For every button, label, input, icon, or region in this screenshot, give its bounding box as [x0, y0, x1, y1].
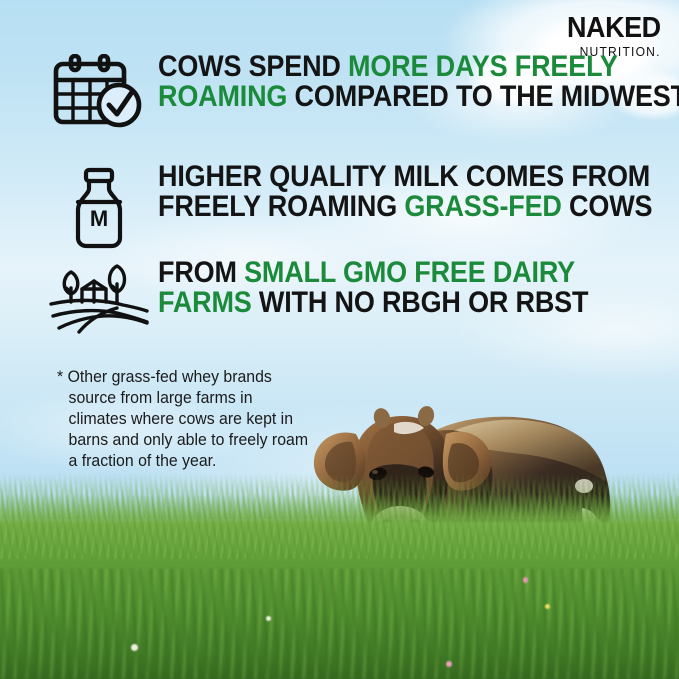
feature-row-milk: M HIGHER QUALITY MILK COMES FROM FREELY … [40, 162, 679, 250]
headline-text-plain: COMPARED TO THE MIDWEST* [287, 80, 679, 113]
infographic-canvas: NAKED NUTRITION. COWS SP [0, 0, 679, 679]
feature-row-roaming: COWS SPEND MORE DAYS FREELY ROAMING COMP… [40, 52, 679, 128]
wildflower [523, 577, 528, 583]
wildflower [545, 604, 550, 609]
footnote: * Other grass-fed whey brands source fro… [57, 367, 309, 472]
calendar-check-icon [40, 52, 158, 128]
headline-milk-line2: FREELY ROAMING GRASS-FED COWS [158, 192, 652, 222]
headline-text-plain: WITH NO RBGH OR RBST [252, 286, 589, 319]
grass-midground-blades [0, 479, 679, 559]
svg-text:M: M [90, 206, 108, 231]
footnote-text: Other grass-fed whey brands source from … [68, 368, 308, 470]
headline-milk: HIGHER QUALITY MILK COMES FROM FREELY RO… [158, 162, 652, 222]
headline-text-plain: HIGHER QUALITY MILK COMES FROM [158, 160, 650, 193]
farm-icon [40, 258, 158, 334]
headline-text-accent: SMALL GMO FREE DAIRY [244, 256, 575, 289]
headline-milk-line1: HIGHER QUALITY MILK COMES FROM [158, 162, 652, 192]
wildflower [446, 661, 452, 667]
grass-foreground-blades [0, 569, 679, 679]
headline-text-plain: COWS SPEND [158, 50, 348, 83]
headline-farm: FROM SMALL GMO FREE DAIRY FARMS WITH NO … [158, 258, 588, 318]
headline-text-plain-end: COWS [562, 190, 653, 223]
headline-text-plain: FREELY ROAMING [158, 190, 404, 223]
brand-name: NAKED [567, 14, 661, 43]
headline-text-accent: MORE DAYS FREELY [348, 50, 618, 83]
headline-roaming-line1: COWS SPEND MORE DAYS FREELY [158, 52, 679, 82]
feature-row-farm: FROM SMALL GMO FREE DAIRY FARMS WITH NO … [40, 258, 636, 334]
headline-roaming: COWS SPEND MORE DAYS FREELY ROAMING COMP… [158, 52, 679, 112]
wildflower [266, 616, 271, 621]
headline-text-accent: FARMS [158, 286, 252, 319]
headline-farm-line2: FARMS WITH NO RBGH OR RBST [158, 288, 588, 318]
headline-text-accent: ROAMING [158, 80, 287, 113]
headline-farm-line1: FROM SMALL GMO FREE DAIRY [158, 258, 588, 288]
headline-roaming-line2: ROAMING COMPARED TO THE MIDWEST* [158, 82, 679, 112]
headline-text-accent: GRASS-FED [404, 190, 561, 223]
wildflower [131, 644, 138, 651]
headline-text-plain: FROM [158, 256, 244, 289]
milk-bottle-icon: M [40, 162, 158, 250]
